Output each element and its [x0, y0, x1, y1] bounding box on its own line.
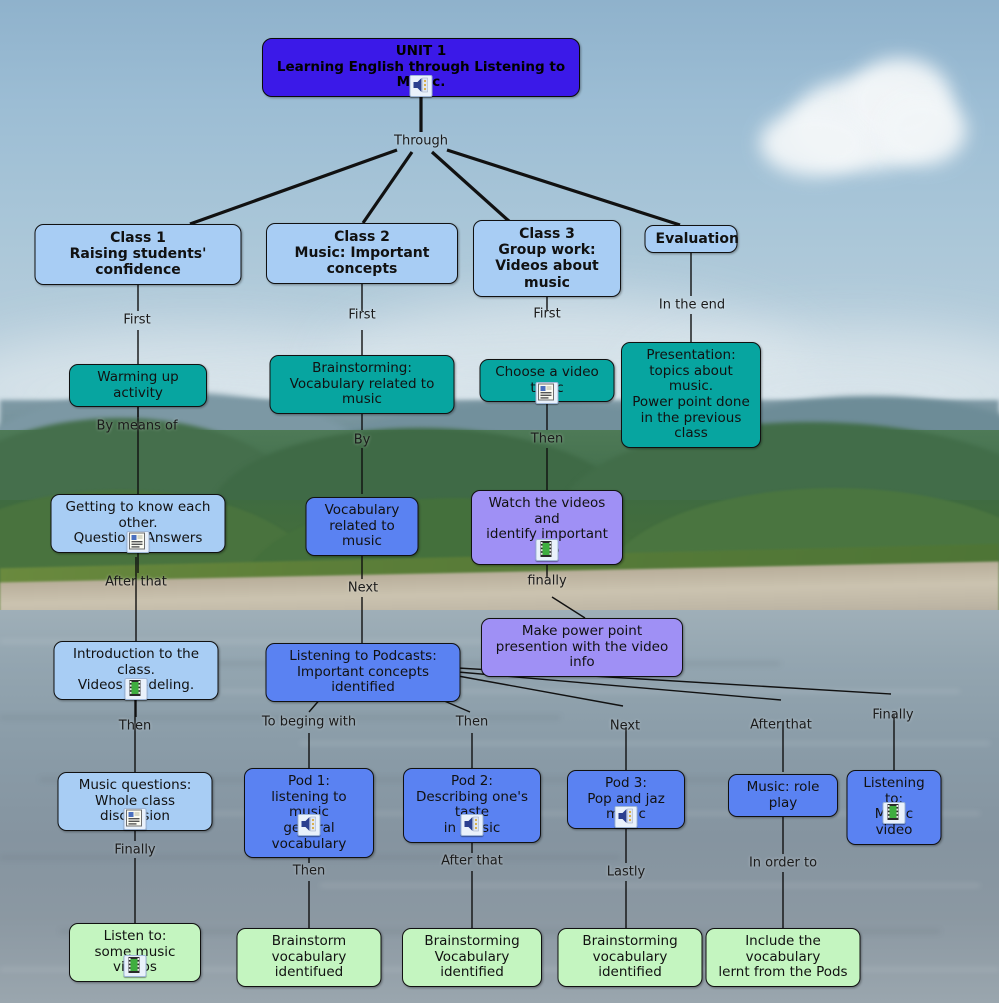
- link-label-to-beging-with: To beging with: [262, 715, 356, 730]
- link-label-then-intro: Then: [119, 719, 151, 734]
- bs3-line-2: vocabulary identified: [569, 950, 692, 981]
- class1-line-2: Raising students' confidence: [46, 246, 231, 278]
- class3-line-1: Class 3: [484, 226, 610, 242]
- text-document-icon[interactable]: [124, 808, 147, 830]
- speaker-icon[interactable]: [615, 806, 638, 828]
- link-through-class1: [190, 150, 397, 224]
- link-label-then-topic: Then: [531, 432, 563, 447]
- node-warming-up-activity[interactable]: Warming up activity: [69, 364, 207, 407]
- node-vocabulary-related-to-music[interactable]: Vocabulary related to music: [306, 497, 419, 556]
- node-include-vocabulary[interactable]: Include the vocabulary lernt from the Po…: [706, 928, 861, 987]
- link-through-class2: [363, 152, 412, 223]
- node-listening-to-podcasts[interactable]: Listening to Podcasts: Important concept…: [266, 643, 461, 702]
- link-label-after-that-pod2: After that: [441, 854, 503, 869]
- link-watch-makepp-2: [552, 597, 585, 618]
- bs3-line-1: Brainstorming: [569, 934, 692, 950]
- brainstorming-line-2: Vocabulary related to music: [281, 377, 444, 408]
- node-brainstorm-vocabulary-1[interactable]: Brainstorm vocabulary identifued: [237, 928, 382, 987]
- link-label-finally-lmv: Finally: [872, 708, 913, 723]
- speaker-icon[interactable]: [298, 814, 321, 836]
- link-through-evaluation: [447, 150, 680, 225]
- bs2-line-1: Brainstorming: [413, 934, 531, 950]
- node-brainstorming-vocabulary-2[interactable]: Brainstorming Vocabulary identified: [402, 928, 542, 987]
- text-document-icon[interactable]: [127, 531, 150, 553]
- role-label: Music: role play: [739, 780, 827, 811]
- node-music-role-play[interactable]: Music: role play: [728, 774, 838, 817]
- presentation-line-3: Power point done: [632, 395, 750, 411]
- makepp-line-1: Make power point: [492, 624, 672, 640]
- link-label-finally-watch: finally: [527, 574, 566, 589]
- watch-line-1: Watch the videos: [482, 496, 612, 512]
- pod2-line-1: Pod 2:: [414, 774, 530, 790]
- class3-line-2: Group work:: [484, 242, 610, 258]
- link-label-through: Through: [394, 134, 448, 149]
- link-label-in-the-end: In the end: [659, 298, 725, 313]
- link-label-next-pod3: Next: [610, 719, 640, 734]
- concept-map-canvas: Through First First First In the end By …: [0, 0, 999, 1003]
- link-label-next-vocab: Next: [348, 581, 378, 596]
- node-presentation[interactable]: Presentation: topics about music. Power …: [621, 342, 761, 448]
- intro-line-1: Introduction to the class.: [65, 647, 208, 678]
- link-label-finally-mq: Finally: [114, 843, 155, 858]
- bs1-line-1: Brainstorm: [248, 934, 371, 950]
- node-class-2[interactable]: Class 2 Music: Important concepts: [266, 223, 458, 284]
- link-label-first-class1: First: [123, 313, 150, 328]
- podcast-line-1: Listening to Podcasts:: [277, 649, 450, 665]
- speaker-icon[interactable]: [461, 814, 484, 836]
- link-label-first-class3: First: [533, 307, 560, 322]
- presentation-line-2: topics about music.: [632, 364, 750, 395]
- brainstorming-line-1: Brainstorming:: [281, 361, 444, 377]
- film-strip-icon[interactable]: [125, 678, 148, 700]
- link-label-by-means-of: By means of: [96, 419, 177, 434]
- link-label-in-order-to: In order to: [749, 856, 817, 871]
- listen-line-1: Listen to:: [80, 929, 190, 945]
- link-through-class3: [432, 152, 510, 222]
- bs1-line-2: vocabulary identifued: [248, 950, 371, 981]
- getting-line-1: Getting to know each other.: [62, 500, 215, 531]
- link-label-first-class2: First: [348, 308, 375, 323]
- node-brainstorming-vocabulary[interactable]: Brainstorming: Vocabulary related to mus…: [270, 355, 455, 414]
- class2-line-1: Class 2: [277, 229, 447, 245]
- class1-line-1: Class 1: [46, 230, 231, 246]
- mq-line-1: Music questions:: [69, 778, 202, 794]
- node-brainstorming-vocabulary-3[interactable]: Brainstorming vocabulary identified: [558, 928, 703, 987]
- vocab-line-1: Vocabulary: [317, 503, 408, 519]
- podcast-line-2: Important concepts identified: [277, 665, 450, 696]
- link-label-after-that-role: After that: [750, 718, 812, 733]
- include-line-2: lernt from the Pods: [717, 965, 850, 981]
- link-podcast-pod3: [458, 676, 623, 706]
- text-document-icon[interactable]: [536, 382, 559, 404]
- film-strip-icon[interactable]: [536, 539, 559, 561]
- presentation-line-4: in the previous class: [632, 411, 750, 442]
- class2-line-2: Music: Important concepts: [277, 245, 447, 277]
- vocab-line-2: related to music: [317, 519, 408, 550]
- film-strip-icon[interactable]: [883, 802, 906, 824]
- presentation-line-1: Presentation:: [632, 348, 750, 364]
- node-make-power-point[interactable]: Make power point presention with the vid…: [481, 618, 683, 677]
- root-line-1: UNIT 1: [273, 44, 569, 60]
- pod3-line-1: Pod 3:: [578, 776, 674, 792]
- node-class-3[interactable]: Class 3 Group work: Videos about music: [473, 220, 621, 297]
- node-class-1[interactable]: Class 1 Raising students' confidence: [35, 224, 242, 285]
- include-line-1: Include the vocabulary: [717, 934, 850, 965]
- speaker-icon[interactable]: [410, 75, 433, 97]
- pod1-line-1: Pod 1:: [255, 774, 363, 790]
- link-label-then-pod1: Then: [293, 864, 325, 879]
- class3-line-3: Videos about music: [484, 258, 610, 290]
- node-evaluation[interactable]: Evaluation: [645, 225, 738, 253]
- makepp-line-2: presention with the video info: [492, 640, 672, 671]
- evaluation-label: Evaluation: [656, 231, 727, 247]
- link-label-lastly-pod3: Lastly: [607, 865, 645, 880]
- watch-line-2: and: [482, 512, 612, 528]
- link-label-after-that-1: After that: [105, 575, 167, 590]
- link-label-by: By: [354, 433, 371, 448]
- warming-label: Warming up activity: [80, 370, 196, 401]
- link-label-then-pod2: Then: [456, 715, 488, 730]
- film-strip-icon[interactable]: [124, 955, 147, 977]
- bs2-line-2: Vocabulary identified: [413, 950, 531, 981]
